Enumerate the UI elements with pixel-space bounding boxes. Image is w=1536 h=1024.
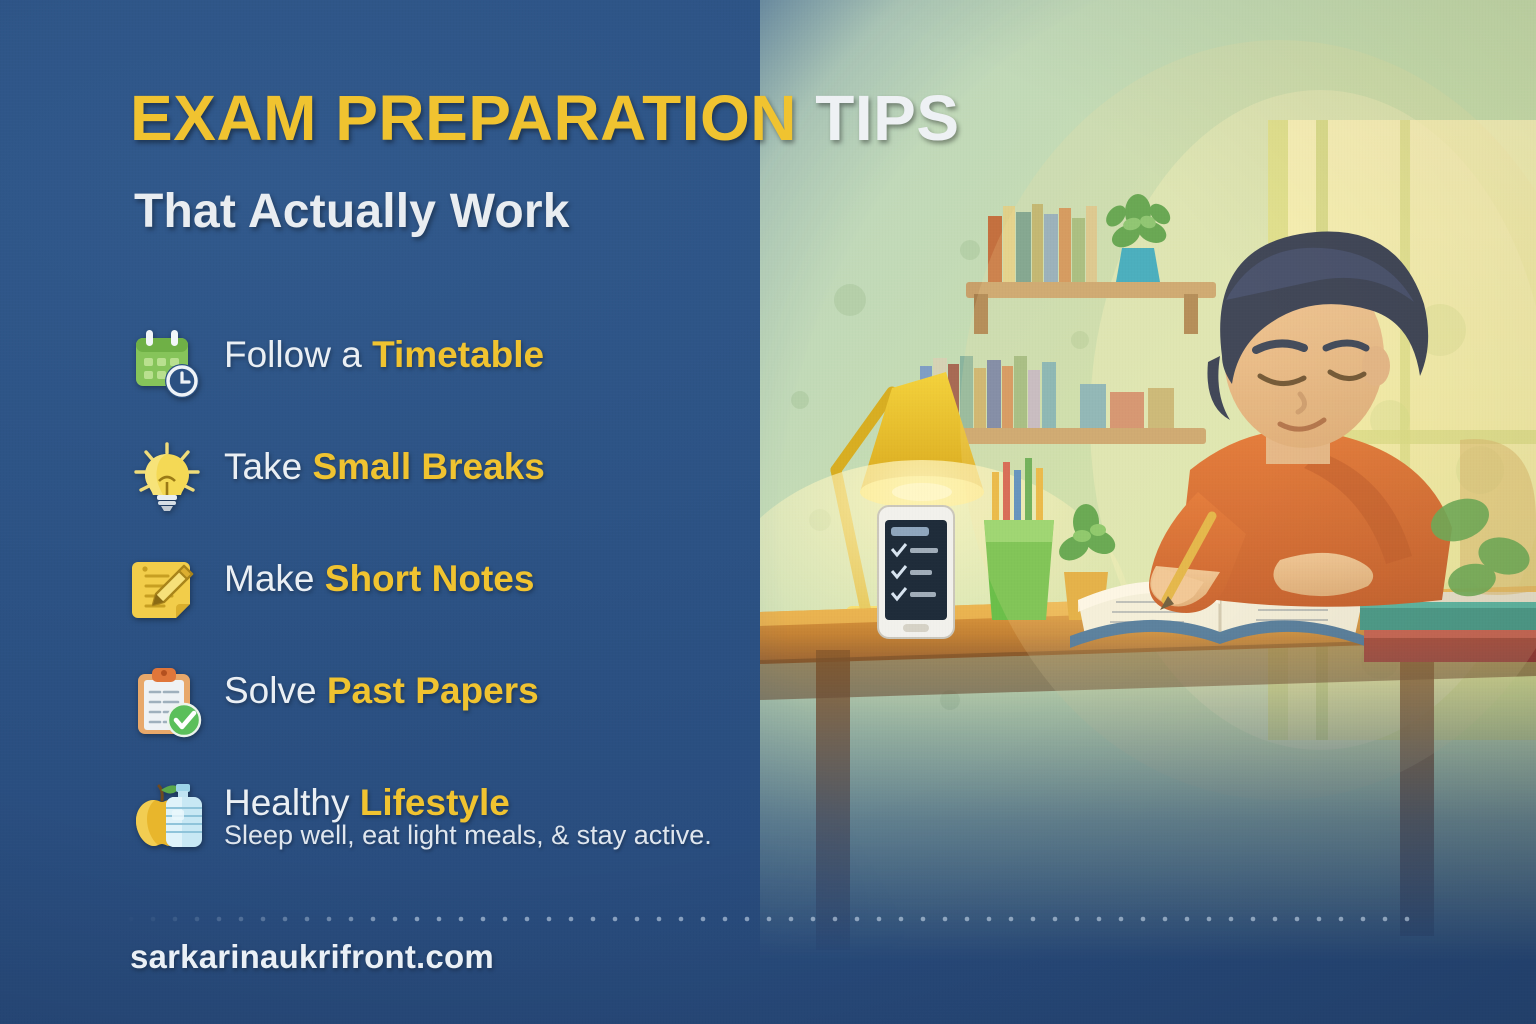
list-item: Make Short Notes (128, 550, 748, 662)
tip-label-accent: Timetable (372, 334, 544, 375)
tip-label: Take Small Breaks (224, 446, 545, 488)
tip-label-plain: Make (224, 558, 325, 599)
page-title-plain: TIPS (815, 82, 959, 154)
memo-pencil-icon (128, 550, 206, 628)
tip-label-plain: Take (224, 446, 312, 487)
list-item: Solve Past Papers (128, 662, 748, 774)
lightbulb-icon (128, 438, 206, 516)
clipboard-check-icon (128, 662, 206, 740)
footer-divider (120, 916, 1420, 922)
tip-label-plain: Solve (224, 670, 327, 711)
calendar-clock-icon (128, 326, 206, 404)
apple-bottle-icon (128, 774, 206, 852)
page-title-highlight: EXAM PREPARATION (130, 82, 797, 154)
tip-label: Healthy Lifestyle (224, 782, 510, 824)
tip-label-plain: Healthy (224, 782, 360, 823)
list-item: Take Small Breaks (128, 438, 748, 550)
tip-label-plain: Follow a (224, 334, 372, 375)
tips-note: Sleep well, eat light meals, & stay acti… (224, 820, 712, 851)
tips-list: Follow a Timetable (128, 326, 748, 886)
infographic-poster: EXAM PREPARATION TIPS That Actually Work (0, 0, 1536, 1024)
tip-label: Make Short Notes (224, 558, 534, 600)
page-title: EXAM PREPARATION TIPS (130, 86, 960, 151)
tip-label-accent: Past Papers (327, 670, 539, 711)
list-item: Follow a Timetable (128, 326, 748, 438)
tip-label-accent: Short Notes (325, 558, 535, 599)
tip-label-accent: Lifestyle (360, 782, 510, 823)
tip-label: Solve Past Papers (224, 670, 539, 712)
page-subtitle: That Actually Work (134, 184, 570, 239)
tip-label-accent: Small Breaks (312, 446, 544, 487)
website-url: sarkarinaukrifront.com (130, 938, 494, 976)
tip-label: Follow a Timetable (224, 334, 544, 376)
